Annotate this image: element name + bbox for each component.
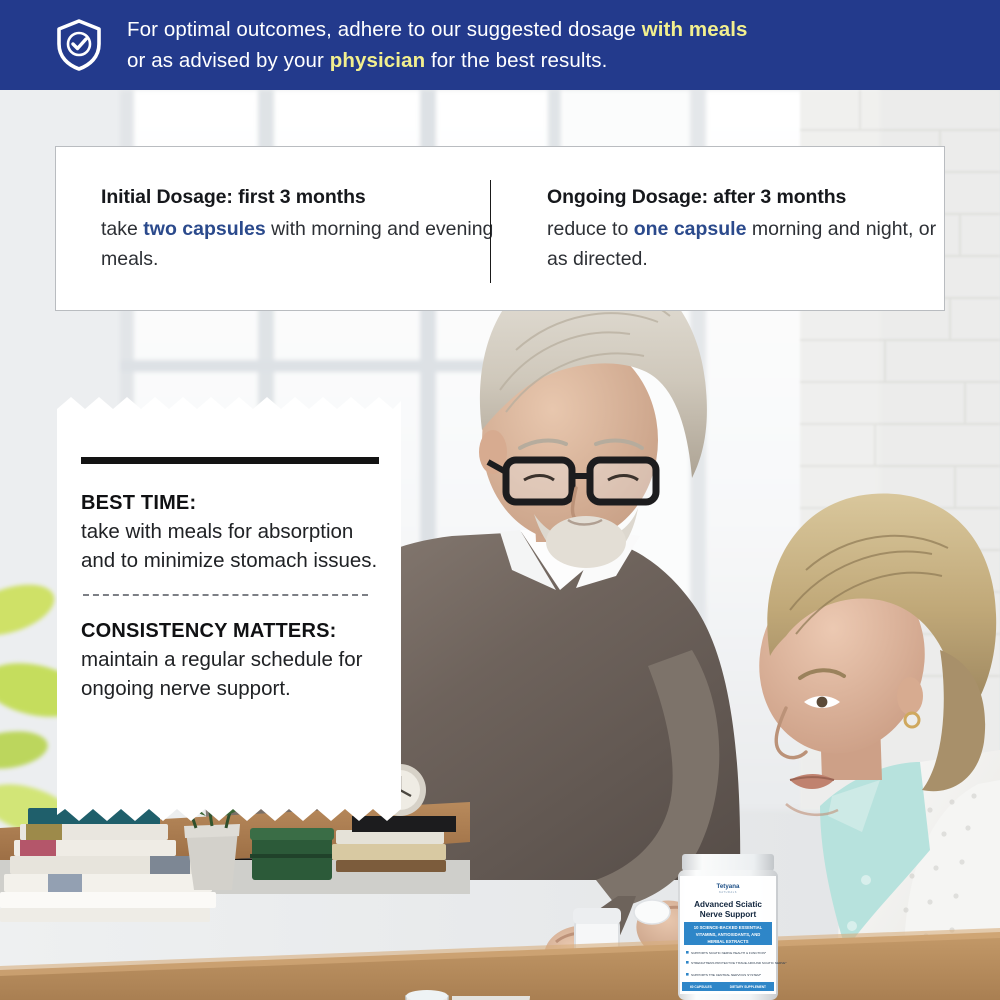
ongoing-dosage-highlight: one capsule [634, 218, 747, 240]
receipt-body-best-time: take with meals for absorp­tion and to m… [81, 517, 383, 575]
ongoing-dosage-body-lead: reduce to [547, 218, 634, 240]
banner-line2-lead: or as advised by your [127, 49, 330, 72]
bottle-subtitle-line1: 10 SCIENCE-BACKED ESSENTIAL [694, 925, 763, 930]
banner-line2-highlight: physician [330, 49, 425, 72]
receipt-heading-consistency: CONSISTENCY MATTERS: [81, 618, 383, 644]
book-stack-right [332, 830, 446, 872]
receipt-dotted-divider [83, 594, 368, 596]
top-notice-banner: For optimal outcomes, adhere to our sugg… [0, 0, 1000, 90]
bottle-bullet-1: SUPPORTS SCIATIC NERVE HEALTH & FUNCTION… [691, 951, 767, 955]
initial-dosage-body: take two capsules with morning and eveni… [101, 214, 500, 274]
receipt-top-rule [81, 457, 379, 464]
bottle-title-line1: Advanced Sciatic [694, 900, 762, 909]
bottle-brand-sub: NATURALS [719, 891, 737, 894]
bottle-title-line2: Nerve Support [700, 910, 757, 919]
ongoing-dosage-title: Ongoing Dosage: after 3 months [547, 184, 944, 211]
dosage-column-initial: Initial Dosage: first 3 months take two … [56, 184, 500, 274]
bottle-subtitle-line2: VITAMINS, ANTIOXIDANTS, AND [696, 932, 761, 937]
ongoing-dosage-body: reduce to one capsule morning and night,… [547, 214, 944, 274]
bottle-subtitle-line3: HERBAL EXTRACTS [707, 939, 748, 944]
receipt-content: BEST TIME: take with meals for absorp­ti… [81, 457, 383, 807]
bottle-capsule-count: 60 CAPSULES [690, 985, 712, 989]
banner-message: For optimal outcomes, adhere to our sugg… [127, 14, 748, 76]
initial-dosage-title: Initial Dosage: first 3 months [101, 184, 500, 211]
initial-dosage-body-lead: take [101, 218, 143, 240]
banner-line2-tail: for the best results. [425, 49, 607, 72]
receipt-note-card: BEST TIME: take with meals for absorp­ti… [57, 395, 401, 823]
banner-line1-highlight: with meals [642, 18, 748, 41]
product-bottle: Tetyana NATURALS Advanced Sciatic Nerve … [668, 852, 788, 1000]
tablet-stand [452, 996, 530, 1000]
dosage-column-divider [490, 180, 491, 283]
bottle-bullet-3: SUPPORTS THE CENTRAL NERVOUS SYSTEM* [691, 973, 762, 977]
initial-dosage-highlight: two capsules [143, 218, 265, 240]
eyeglasses [488, 460, 656, 502]
banner-line1-lead: For optimal outcomes, adhere to our sugg… [127, 18, 642, 41]
dosage-card: Initial Dosage: first 3 months take two … [55, 146, 945, 311]
bottle-category: DIETARY SUPPLEMENT [730, 985, 766, 989]
bottle-bullet-2: STRENGTHENS PROTECTIVE TISSUE AROUND SCI… [691, 961, 787, 965]
receipt-body-consistency: maintain a regular schedule for ongoing … [81, 645, 383, 703]
bottle-illustration: Tetyana NATURALS Advanced Sciatic Nerve … [668, 852, 788, 1000]
dosage-column-ongoing: Ongoing Dosage: after 3 months reduce to… [500, 184, 944, 274]
green-tin-box [250, 828, 334, 880]
shield-check-icon [55, 18, 103, 72]
receipt-heading-best-time: BEST TIME: [81, 490, 383, 516]
bottle-brand: Tetyana [717, 883, 740, 890]
